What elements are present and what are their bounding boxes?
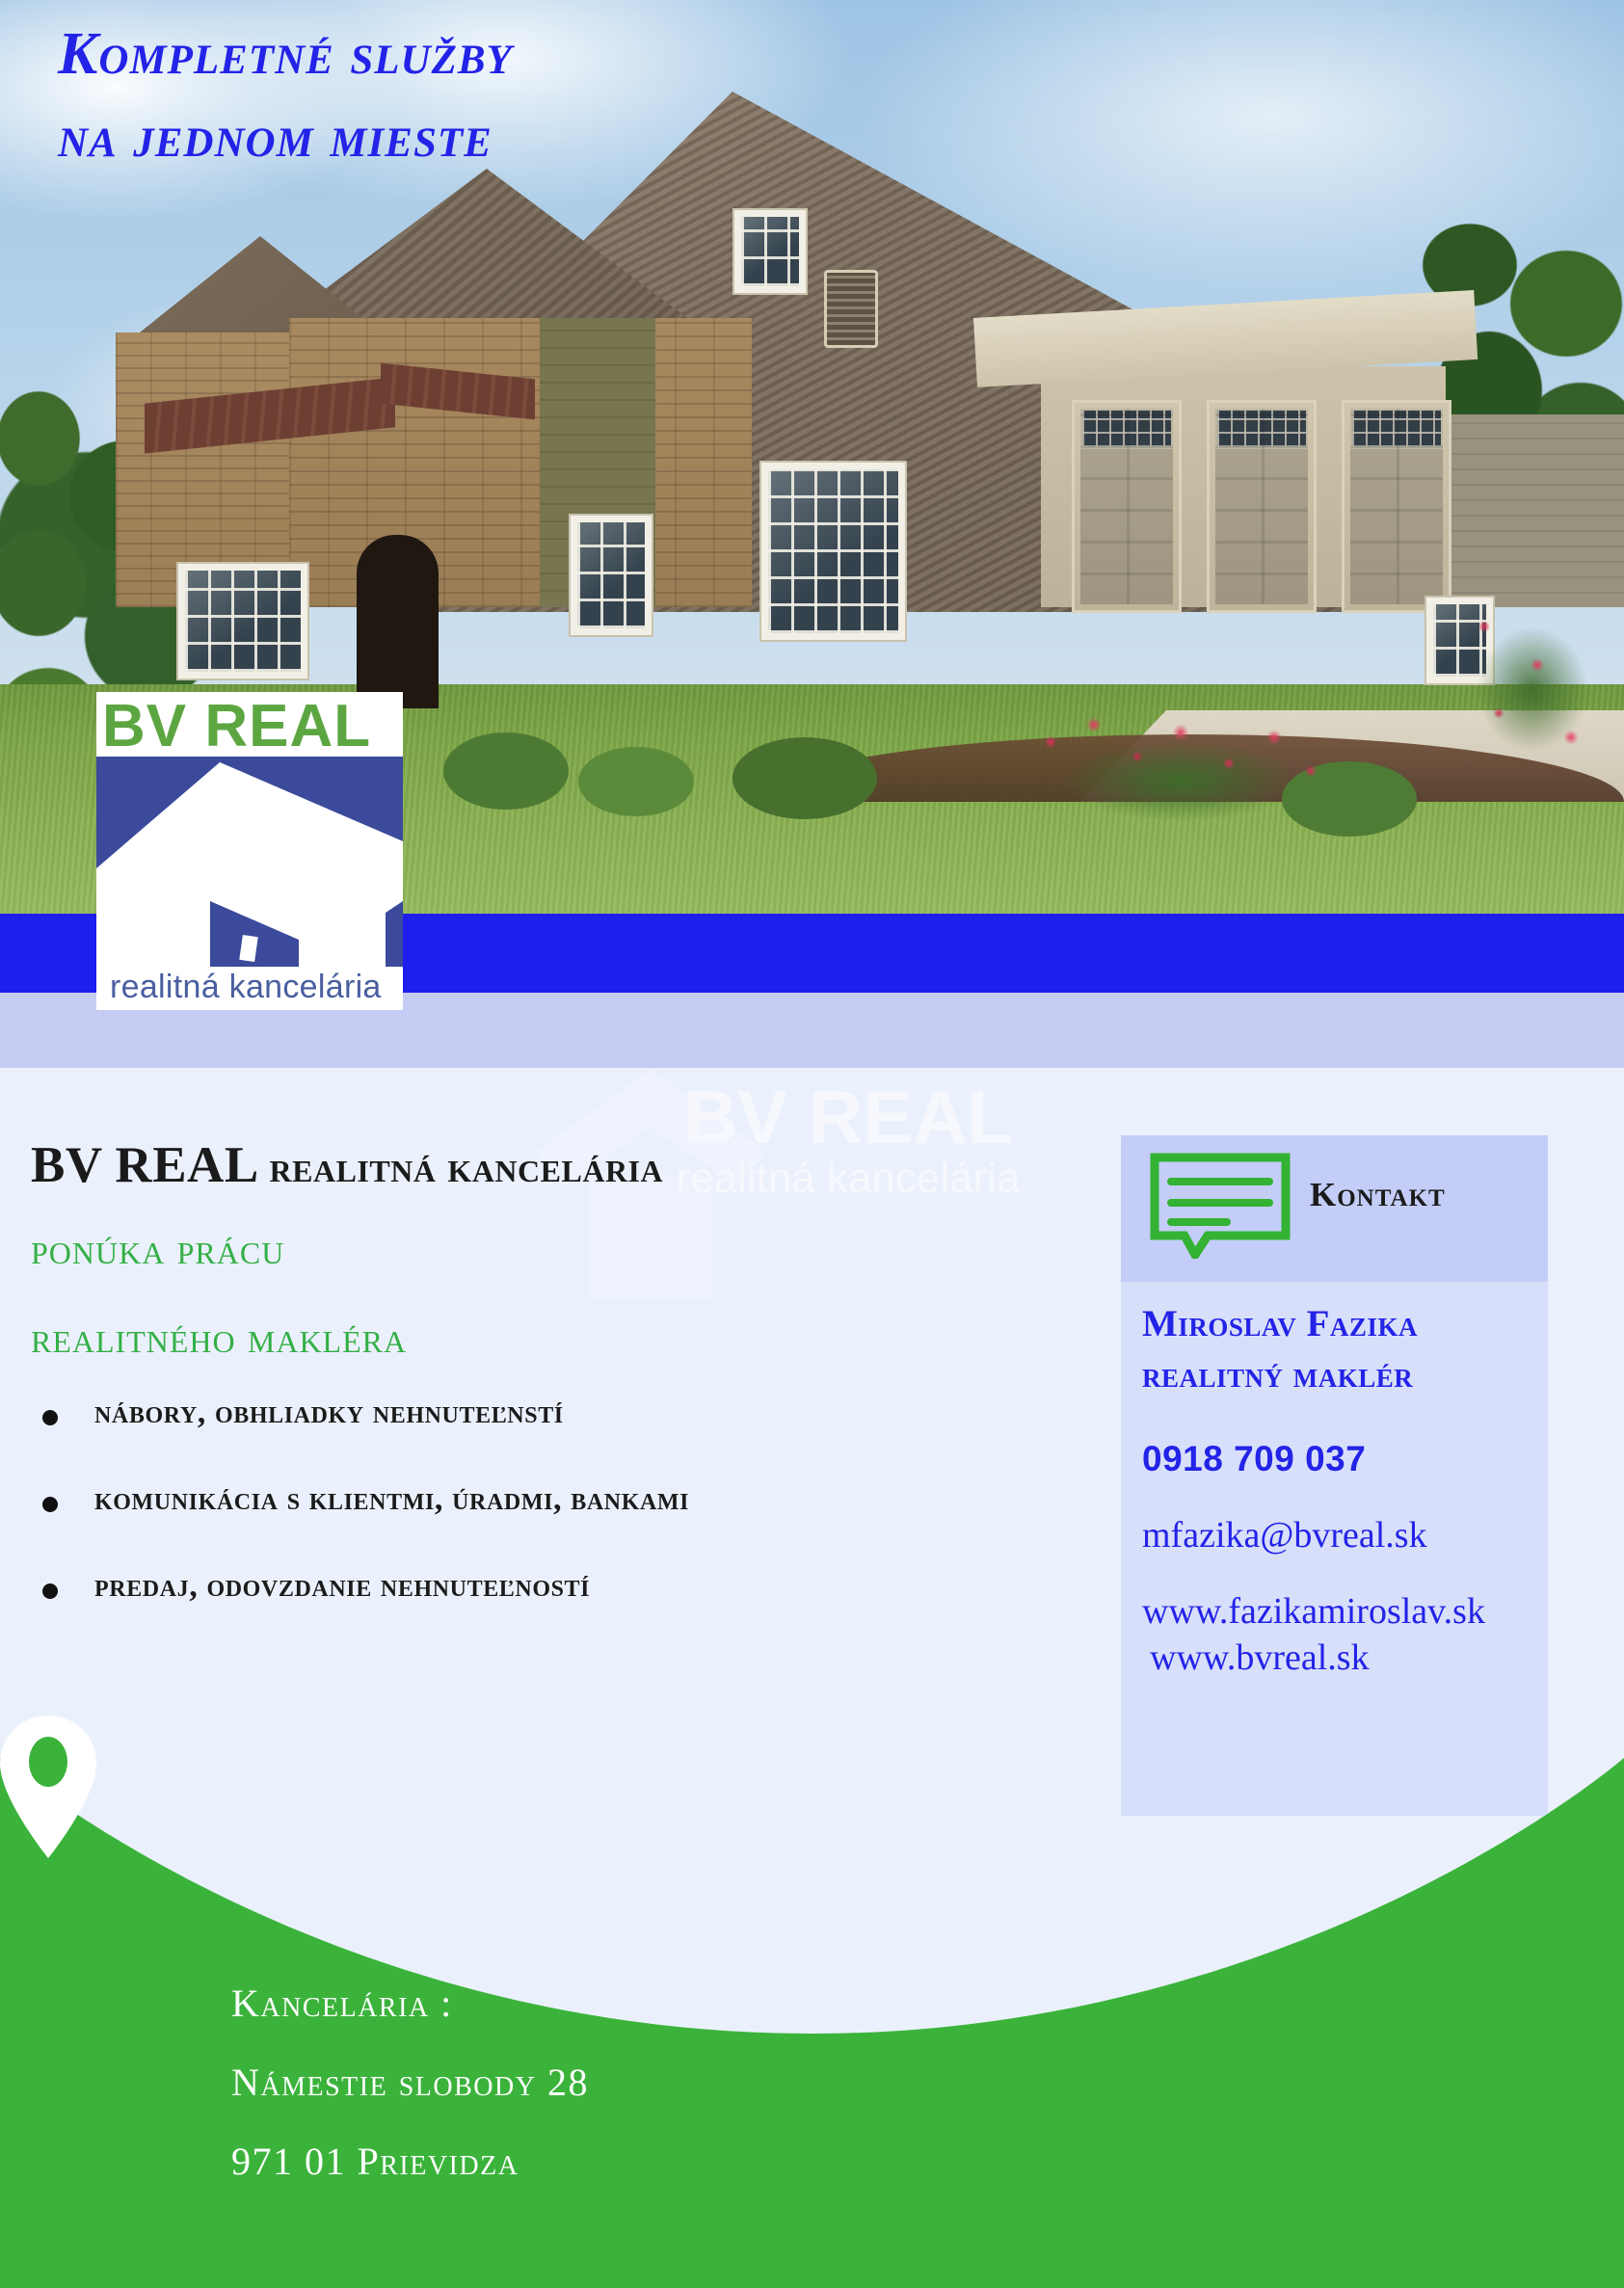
website-link-primary[interactable]: www.fazikamiroslav.sk <box>1142 1589 1527 1636</box>
offer-line-1: ponúka prácu <box>31 1218 1110 1281</box>
page-title: BV REAL realitná kancelária <box>31 1137 1110 1193</box>
bullet-dot-icon <box>42 1583 58 1599</box>
flower-bed <box>1022 704 1340 829</box>
footer-band: Kancelária : Námestie slobody 28 971 01 … <box>0 1716 1624 2288</box>
window-side-small <box>571 516 652 635</box>
offer-line-2: realitného makléra <box>31 1307 1110 1370</box>
shrub <box>732 737 877 819</box>
contact-body: Miroslav Fazika realitný maklér 0918 709… <box>1121 1282 1548 1681</box>
phone-number[interactable]: 0918 709 037 <box>1142 1439 1527 1479</box>
address-line-2: 971 01 Prievidza <box>231 2122 589 2201</box>
page-title-rest: realitná kancelária <box>270 1142 664 1191</box>
garage-door-1 <box>1072 400 1182 613</box>
gable-vent <box>824 270 878 348</box>
headline-line-1: Kompletné služby <box>58 13 848 96</box>
bullet-dot-icon <box>42 1410 58 1425</box>
window-bay <box>178 564 307 678</box>
house-icon <box>96 757 403 967</box>
address-line-1: Námestie slobody 28 <box>231 2043 589 2122</box>
office-label: Kancelária : <box>231 1964 589 2043</box>
window-front-large <box>761 463 905 640</box>
company-logo: BV REAL realitná kancelária <box>96 692 403 1010</box>
office-address: Kancelária : Námestie slobody 28 971 01 … <box>231 1964 589 2201</box>
agent-role: realitný maklér <box>1142 1350 1527 1401</box>
contact-heading: Kontakt <box>1310 1176 1446 1214</box>
list-item-label: komunikácia s klientmi, úradmi, bankami <box>94 1481 689 1518</box>
website-link-secondary[interactable]: www.bvreal.sk <box>1142 1636 1527 1682</box>
list-item: nábory, obhliadky nehnuteľnstí <box>31 1395 1110 1431</box>
garage-door-3 <box>1342 400 1451 613</box>
bullet-dot-icon <box>42 1497 58 1512</box>
headline-line-2: na jednom mieste <box>58 96 848 179</box>
contact-header: Kontakt <box>1121 1135 1548 1282</box>
speech-bubble-icon <box>1150 1153 1291 1259</box>
logo-subtitle: realitná kancelária <box>96 967 403 1010</box>
main-content: BV REAL realitná kancelária ponúka prácu… <box>31 1137 1110 1655</box>
garage-door-2 <box>1207 400 1317 613</box>
shrub <box>578 747 694 816</box>
contact-panel: Kontakt Miroslav Fazika realitný maklér … <box>1121 1135 1548 1816</box>
logo-wordmark: BV REAL <box>96 692 403 757</box>
page-title-brand: BV REAL <box>31 1137 270 1193</box>
list-item: predaj, odovzdanie nehnuteľností <box>31 1568 1110 1605</box>
front-entry-door <box>357 535 439 708</box>
agent-name: Miroslav Fazika <box>1142 1299 1527 1350</box>
map-pin-icon <box>0 1716 96 1858</box>
list-item-label: nábory, obhliadky nehnuteľnstí <box>94 1395 564 1431</box>
hero-headline: Kompletné služby na jednom mieste <box>58 13 848 178</box>
list-item-label: predaj, odovzdanie nehnuteľností <box>94 1568 590 1605</box>
email-address[interactable]: mfazika@bvreal.sk <box>1142 1514 1527 1556</box>
duties-list: nábory, obhliadky nehnuteľnstí komunikác… <box>31 1395 1110 1605</box>
shrub <box>443 732 569 810</box>
logo-house-mark <box>96 757 403 967</box>
flowering-shrub <box>1446 598 1624 781</box>
list-item: komunikácia s klientmi, úradmi, bankami <box>31 1481 1110 1518</box>
window-attic <box>734 210 806 293</box>
website-links: www.fazikamiroslav.sk www.bvreal.sk <box>1142 1589 1527 1681</box>
